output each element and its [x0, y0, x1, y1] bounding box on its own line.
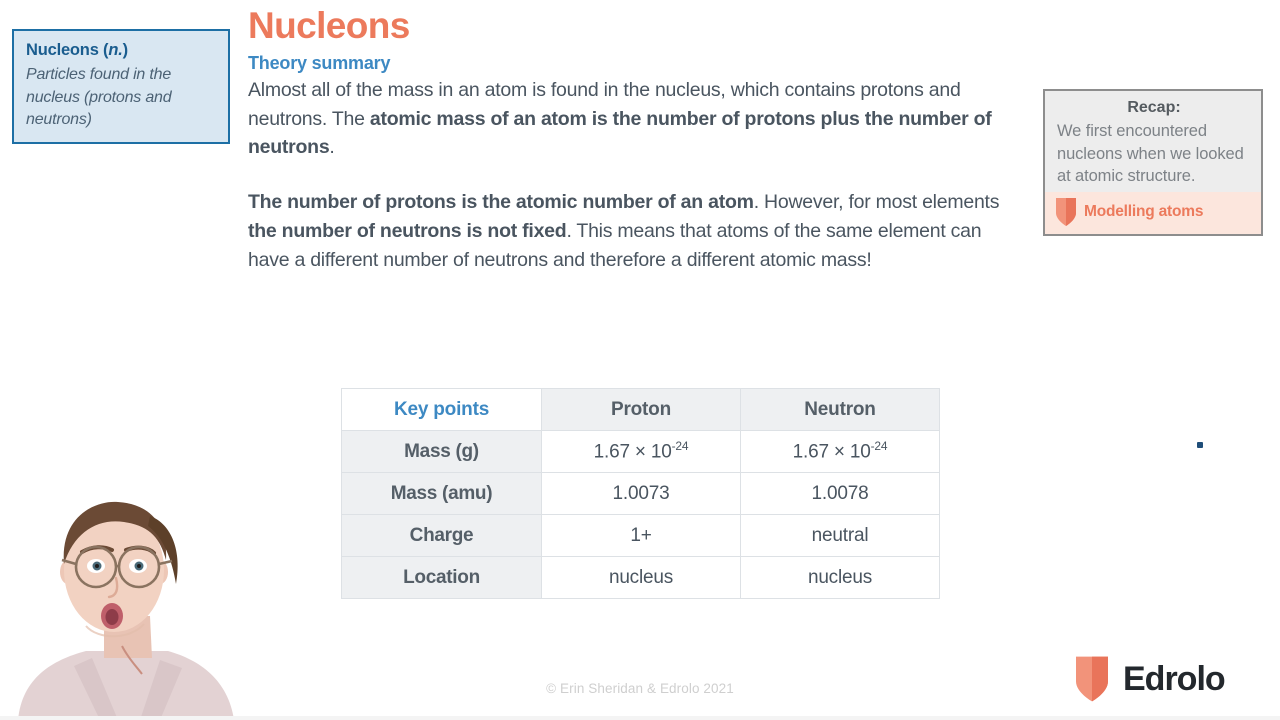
table-corner-label: Key points [342, 389, 542, 431]
table-row: Mass (amu) 1.0073 1.0078 [342, 473, 940, 515]
cell-mass-g-proton-exponent: -24 [672, 439, 689, 453]
cursor-pointer [1197, 442, 1203, 448]
definition-term: Nucleons (n.) [26, 39, 218, 63]
table-row: Charge 1+ neutral [342, 515, 940, 557]
row-label-location: Location [342, 557, 542, 599]
cell-mass-amu-neutron: 1.0078 [741, 473, 940, 515]
table-body: Mass (g) 1.67 × 10-24 1.67 × 10-24 Mass … [342, 431, 940, 599]
paragraph-2-text-a: . However, for most elements [754, 191, 1000, 213]
video-progress-bar[interactable] [0, 716, 1280, 720]
cell-mass-g-neutron-exponent: -24 [871, 439, 888, 453]
definition-term-italic: n. [108, 41, 122, 59]
cell-mass-g-neutron-base: 1.67 × 10 [793, 442, 871, 463]
table-column-header-proton: Proton [542, 389, 741, 431]
theory-paragraph-1: Almost all of the mass in an atom is fou… [248, 76, 1008, 163]
page-title: Nucleons [248, 6, 1008, 47]
shield-icon [1055, 197, 1077, 227]
cell-location-proton: nucleus [542, 557, 741, 599]
table-header-row: Key points Proton Neutron [342, 389, 940, 431]
recap-link-label: Modelling atoms [1084, 203, 1203, 222]
definition-term-text: Nucleons ( [26, 41, 108, 59]
recap-link[interactable]: Modelling atoms [1045, 192, 1261, 234]
key-points-table: Key points Proton Neutron Mass (g) 1.67 … [341, 388, 940, 599]
presenter-webcam-overlay [0, 498, 262, 720]
recap-title: Recap: [1057, 98, 1251, 119]
cell-charge-proton: 1+ [542, 515, 741, 557]
row-label-charge: Charge [342, 515, 542, 557]
table-header: Key points Proton Neutron [342, 389, 940, 431]
edrolo-logo: Edrolo [1073, 655, 1225, 703]
definition-description: Particles found in the nucleus (protons … [26, 64, 218, 132]
shield-icon [1073, 655, 1111, 703]
table-row: Mass (g) 1.67 × 10-24 1.67 × 10-24 [342, 431, 940, 473]
main-content: Nucleons Theory summary Almost all of th… [248, 6, 1008, 275]
edrolo-wordmark: Edrolo [1123, 662, 1225, 696]
paragraph-2-bold-2: the number of neutrons is not fixed [248, 220, 566, 242]
theory-paragraph-2: The number of protons is the atomic numb… [248, 188, 1008, 275]
table-row: Location nucleus nucleus [342, 557, 940, 599]
section-heading-theory-summary: Theory summary [248, 53, 1008, 74]
recap-text: We first encountered nucleons when we lo… [1057, 120, 1251, 188]
cell-location-neutron: nucleus [741, 557, 940, 599]
slide-canvas: Nucleons (n.) Particles found in the nuc… [0, 0, 1280, 720]
definition-box: Nucleons (n.) Particles found in the nuc… [12, 29, 230, 144]
cell-mass-g-proton: 1.67 × 10-24 [542, 431, 741, 473]
cell-charge-neutron: neutral [741, 515, 940, 557]
definition-term-close: ) [123, 41, 128, 59]
row-label-mass-g: Mass (g) [342, 431, 542, 473]
row-label-mass-amu: Mass (amu) [342, 473, 542, 515]
recap-box: Recap: We first encountered nucleons whe… [1043, 89, 1263, 236]
paragraph-1-text-b: . [329, 136, 334, 158]
cell-mass-amu-proton: 1.0073 [542, 473, 741, 515]
recap-body: Recap: We first encountered nucleons whe… [1045, 91, 1261, 192]
cell-mass-g-neutron: 1.67 × 10-24 [741, 431, 940, 473]
cell-mass-g-proton-base: 1.67 × 10 [594, 442, 672, 463]
table-column-header-neutron: Neutron [741, 389, 940, 431]
paragraph-2-bold-1: The number of protons is the atomic numb… [248, 191, 754, 213]
